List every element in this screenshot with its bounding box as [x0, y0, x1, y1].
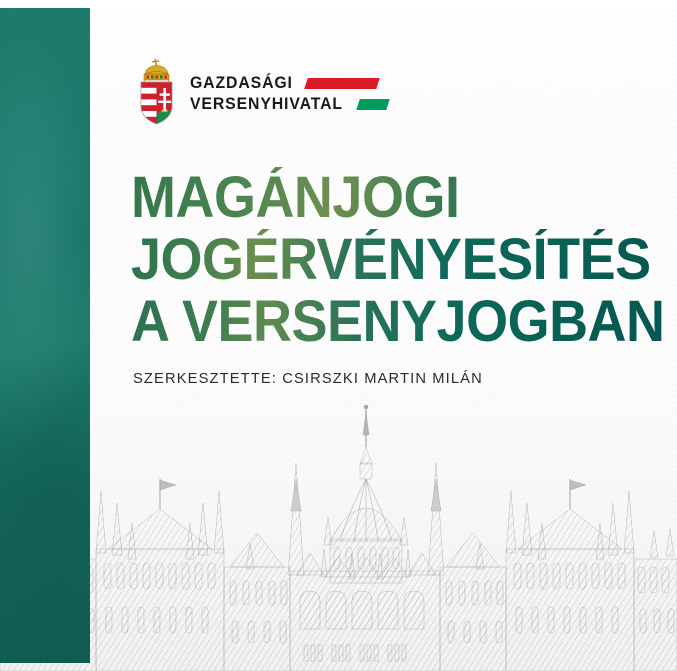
title-line-3: A VERSENYJOGBAN	[131, 291, 665, 353]
spine-texture	[0, 0, 90, 663]
hungarian-parliament-building-illustration	[0, 371, 677, 671]
gvh-logo: GAZDASÁGI VERSENYHIVATAL	[133, 58, 388, 126]
book-cover: GAZDASÁGI VERSENYHIVATAL MAGÁNJOGI JOGÉR…	[0, 0, 677, 671]
title-line-2: JOGÉRVÉNYESÍTÉS	[131, 229, 665, 291]
logo-line-2: VERSENYHIVATAL	[190, 95, 343, 114]
hungarian-coat-of-arms-icon	[133, 58, 180, 126]
logo-row-gazdasagi: GAZDASÁGI	[190, 74, 388, 93]
green-stripe-icon	[356, 99, 390, 110]
logo-wordmark: GAZDASÁGI VERSENYHIVATAL	[190, 70, 388, 114]
logo-row-versenyhivatal: VERSENYHIVATAL	[190, 95, 388, 114]
cover-title: MAGÁNJOGI JOGÉRVÉNYESÍTÉS A VERSENYJOGBA…	[131, 167, 677, 353]
top-alpha-strip	[0, 0, 677, 8]
title-line-1: MAGÁNJOGI	[131, 167, 665, 229]
logo-line-1: GAZDASÁGI	[190, 74, 293, 93]
editor-credit: SZERKESZTETTE: CSIRSZKI MARTIN MILÁN	[133, 370, 483, 387]
left-green-band	[0, 0, 90, 663]
red-stripe-icon	[304, 78, 380, 89]
